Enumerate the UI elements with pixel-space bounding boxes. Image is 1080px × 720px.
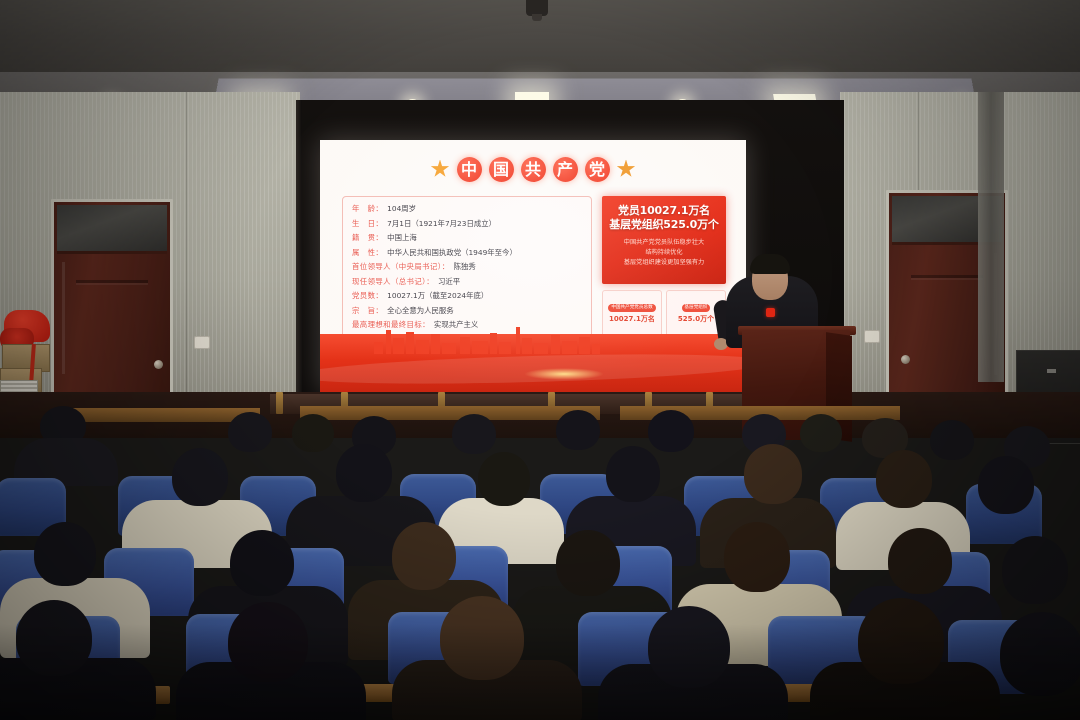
- info-key: 宗 旨：: [352, 305, 383, 316]
- left-door[interactable]: [51, 199, 173, 407]
- audience-head: [744, 444, 802, 504]
- info-key: 属 性：: [352, 247, 383, 258]
- title-char: 党: [585, 157, 610, 182]
- lecture-hall-photo: 中 国 共 产 党 年 龄： 104周岁 生 日： 7月1日（1921年7月23…: [0, 0, 1080, 720]
- door-edge: [62, 262, 65, 374]
- info-row: 现任领导人（总书记）： 习近平: [352, 276, 582, 287]
- light-switch[interactable]: [864, 330, 880, 343]
- seated-audience: [0, 400, 1080, 720]
- projection-screen: 中 国 共 产 党 年 龄： 104周岁 生 日： 7月1日（1921年7月23…: [320, 140, 746, 392]
- audience-head: [800, 414, 842, 452]
- door-rail: [76, 280, 148, 283]
- title-char: 产: [553, 157, 578, 182]
- audience-head: [172, 448, 228, 506]
- mini-stat-tag: 中国共产党党员总数: [608, 304, 655, 311]
- audience-head: [858, 598, 944, 684]
- audience-head: [556, 410, 600, 450]
- audience-head: [292, 414, 334, 452]
- info-value: 10027.1万（截至2024年底）: [387, 290, 488, 301]
- info-value: 陈独秀: [454, 261, 476, 272]
- stat-subtext: 结构持续优化: [608, 248, 720, 257]
- mini-stat-value: 10027.1万名: [604, 314, 660, 324]
- info-key: 党员数：: [352, 290, 383, 301]
- audience-head: [930, 420, 974, 460]
- slide-title: 中 国 共 产 党: [320, 152, 746, 186]
- audience-head: [230, 530, 294, 596]
- title-char: 共: [521, 157, 546, 182]
- audience-head: [606, 446, 660, 502]
- info-row: 宗 旨： 全心全意为人民服务: [352, 305, 582, 316]
- info-row: 首位领导人（中央局书记）： 陈独秀: [352, 261, 582, 272]
- party-info-box: 年 龄： 104周岁 生 日： 7月1日（1921年7月23日成立） 籍 贯： …: [342, 196, 592, 344]
- audience-head: [440, 596, 524, 680]
- info-key: 生 日：: [352, 218, 383, 229]
- door-knob-icon[interactable]: [901, 355, 910, 364]
- title-char: 中: [457, 157, 482, 182]
- backdrop-edge: [296, 100, 302, 400]
- audience-head: [1002, 536, 1068, 604]
- speaker-hair: [750, 254, 790, 274]
- audience-head: [876, 450, 932, 508]
- audience-head: [1000, 612, 1080, 696]
- desk-row: [60, 408, 260, 422]
- cabinet-label: [1047, 369, 1056, 373]
- info-row: 年 龄： 104周岁: [352, 203, 582, 214]
- audience-head: [978, 456, 1034, 514]
- audience-head: [478, 452, 530, 506]
- ceiling-projector-icon: [526, 0, 548, 16]
- audience-head: [648, 410, 694, 452]
- light-switch[interactable]: [194, 336, 210, 349]
- info-row: 籍 贯： 中国上海: [352, 232, 582, 243]
- party-emblem-lapel-pin: [766, 308, 775, 317]
- info-row: 党员数： 10027.1万（截至2024年底）: [352, 290, 582, 301]
- star-icon: [431, 160, 450, 179]
- stat-subtext: 基层党组织建设更加坚强有力: [608, 258, 720, 267]
- title-char: 国: [489, 157, 514, 182]
- info-row: 属 性： 中华人民共和国执政党（1949年至今）: [352, 247, 582, 258]
- info-key: 现任领导人（总书记）：: [352, 276, 434, 287]
- audience-head: [888, 528, 952, 594]
- stat-headline: 基层党组织525.0万个: [608, 218, 720, 232]
- door-knob-icon[interactable]: [154, 360, 163, 369]
- audience-head: [336, 444, 392, 502]
- info-value: 7月1日（1921年7月23日成立）: [387, 218, 496, 229]
- info-key: 首位领导人（中央局书记）：: [352, 261, 450, 272]
- star-icon: [617, 160, 636, 179]
- audience-head: [228, 602, 308, 682]
- info-value: 中国上海: [387, 232, 417, 243]
- audience-head: [452, 414, 496, 454]
- audience-head: [34, 522, 96, 586]
- mini-stat-tag: 基层党组织: [682, 304, 711, 311]
- desk-row: [300, 406, 600, 420]
- audience-head: [556, 530, 620, 596]
- skyline-flare: [524, 368, 604, 380]
- info-value: 104周岁: [387, 203, 416, 214]
- window-curtain: [978, 92, 1004, 382]
- stat-subtext: 中国共产党党员队伍稳步壮大: [608, 238, 720, 247]
- door-transom-window: [57, 205, 167, 254]
- audience-head: [392, 522, 456, 590]
- info-key: 年 龄：: [352, 203, 383, 214]
- stat-headline: 党员10027.1万名: [608, 204, 720, 218]
- info-value: 中华人民共和国执政党（1949年至今）: [387, 247, 517, 258]
- audience-head: [724, 522, 790, 592]
- audience-head: [16, 600, 92, 676]
- info-row: 生 日： 7月1日（1921年7月23日成立）: [352, 218, 582, 229]
- audience-head: [228, 412, 272, 452]
- audience-head: [648, 606, 730, 688]
- skyline-buildings: [320, 324, 746, 354]
- red-city-skyline: [320, 334, 746, 392]
- door-rail: [911, 275, 983, 278]
- statistics-panel: 党员10027.1万名 基层党组织525.0万个 中国共产党党员队伍稳步壮大 结…: [602, 196, 726, 284]
- info-key: 籍 贯：: [352, 232, 383, 243]
- wall-seam: [186, 92, 187, 432]
- info-value: 习近平: [438, 276, 460, 287]
- info-value: 全心全意为人民服务: [387, 305, 454, 316]
